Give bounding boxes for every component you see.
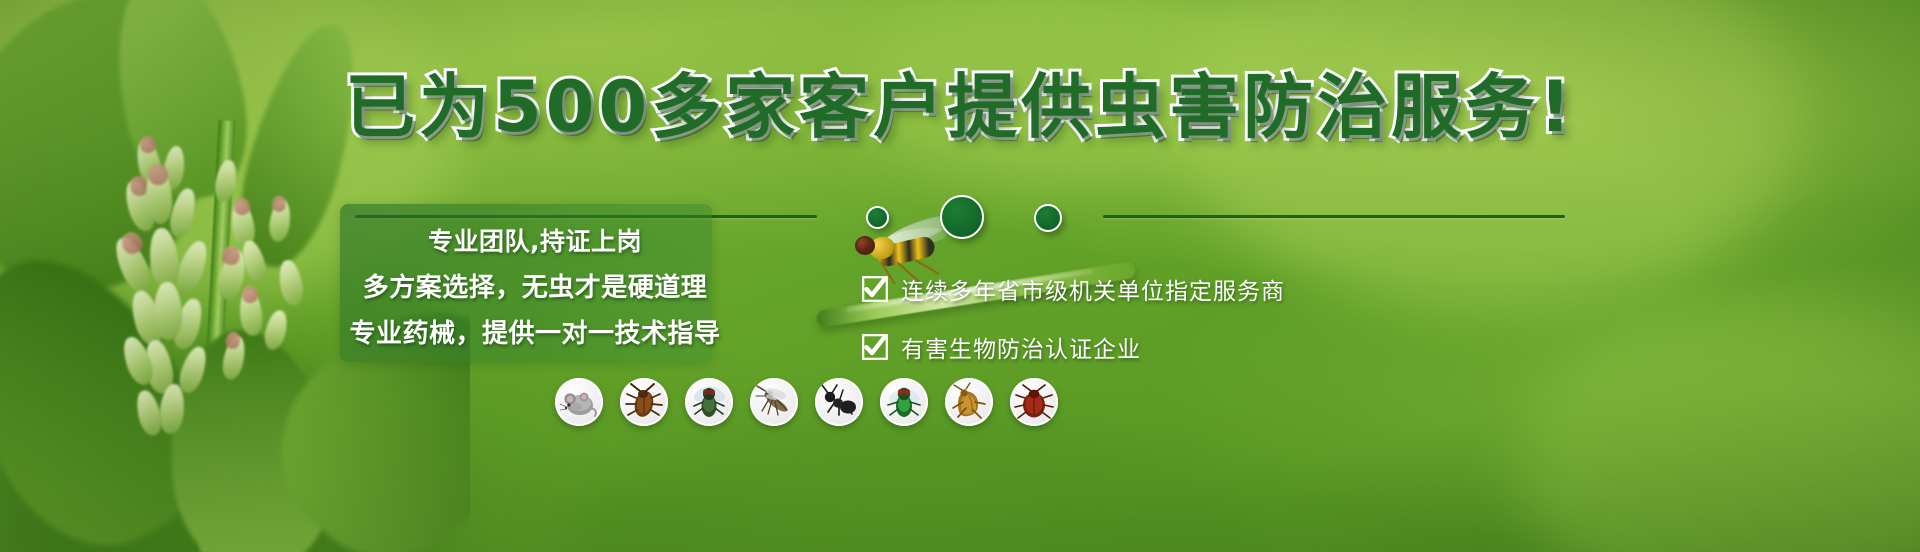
ant-icon[interactable] <box>815 378 863 426</box>
fly-icon[interactable] <box>685 378 733 426</box>
checkbox-checked-icon <box>862 276 888 302</box>
divider-dot-large <box>940 195 984 239</box>
promo-banner: 已为500多家客户提供虫害防治服务! 专业团队,持证上岗 多方案选择，无虫才是硬… <box>0 0 1920 552</box>
divider-line-right <box>1103 215 1565 218</box>
checklist-item: 有害生物防治认证企业 <box>862 330 1562 364</box>
credentials-checklist: 连续多年省市级机关单位指定服务商 有害生物防治认证企业 <box>862 272 1562 388</box>
flea-icon[interactable] <box>945 378 993 426</box>
mouse-icon[interactable] <box>555 378 603 426</box>
checklist-item-label: 有害生物防治认证企业 <box>901 330 1141 364</box>
divider-dot-medium <box>1034 204 1062 232</box>
pest-icon-row <box>555 378 1058 426</box>
cockroach-icon[interactable] <box>620 378 668 426</box>
feature-line-2: 多方案选择，无虫才是硬道理 <box>300 267 770 304</box>
page-title-text: 已为500多家客户提供虫害防治服务! <box>345 66 1575 148</box>
blowfly-icon[interactable] <box>880 378 928 426</box>
features-panel-text: 专业团队,持证上岗 多方案选择，无虫才是硬道理 专业药械，提供一对一技术指导 <box>300 208 770 360</box>
mosquito-icon[interactable] <box>750 378 798 426</box>
checklist-item-label: 连续多年省市级机关单位指定服务商 <box>901 272 1285 306</box>
divider-dot-small <box>866 206 889 229</box>
page-title: 已为500多家客户提供虫害防治服务! <box>0 72 1920 142</box>
decorative-divider <box>0 195 1920 239</box>
checkbox-checked-icon <box>862 334 888 360</box>
feature-line-1: 专业团队,持证上岗 <box>300 222 770 258</box>
bedbug-icon[interactable] <box>1010 378 1058 426</box>
feature-line-3: 专业药械，提供一对一技术指导 <box>300 313 770 350</box>
checklist-item: 连续多年省市级机关单位指定服务商 <box>862 272 1562 306</box>
